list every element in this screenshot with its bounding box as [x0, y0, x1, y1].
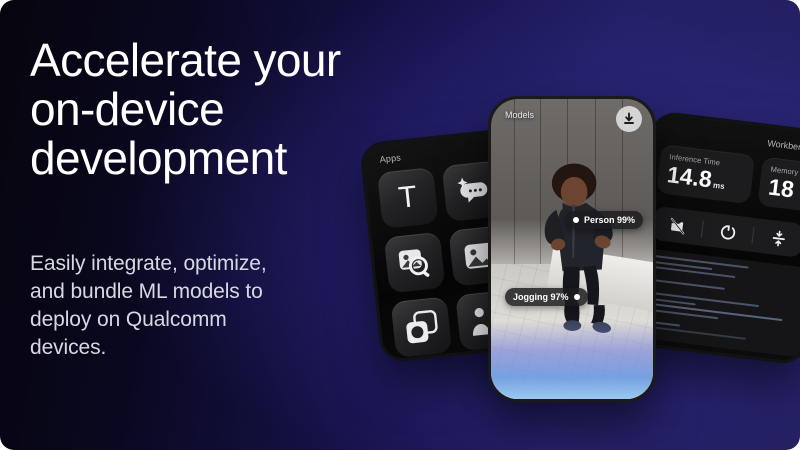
detection-label: Jogging 97% [513, 292, 569, 302]
camera-viewfinder [491, 99, 653, 399]
page-subtitle: Easily integrate, optimize, and bundle M… [30, 250, 370, 362]
workbench-toolbar [650, 206, 800, 258]
stat-card-memory: Memory 18 [757, 157, 800, 217]
workbench-stats: Inference Time 14.8ms Memory 18 [656, 144, 800, 217]
detection-badge-person: Person 99% [565, 211, 643, 229]
device-showcase: Apps T [360, 0, 800, 450]
detection-label: Person 99% [584, 215, 635, 225]
text-recognition-icon[interactable]: T [377, 167, 439, 229]
camera-off-icon[interactable] [650, 206, 704, 246]
image-search-icon[interactable] [384, 232, 446, 294]
stat-unit: ms [713, 181, 726, 191]
detection-badge-jogging: Jogging 97% [505, 288, 588, 306]
copy-block: Accelerate your on-device development Ea… [30, 36, 390, 182]
workbench-title: Workbench [767, 138, 800, 153]
stat-card-inference-time: Inference Time 14.8ms [656, 144, 755, 204]
layers-copy-icon[interactable] [391, 296, 453, 358]
refresh-icon[interactable] [701, 212, 755, 252]
download-icon[interactable] [616, 106, 642, 132]
models-title: Models [505, 110, 534, 120]
hero-banner: Accelerate your on-device development Ea… [0, 0, 800, 450]
stat-unit [795, 191, 796, 200]
phone-camera: Models Person 99% Jogging 97% [488, 96, 656, 402]
apps-title: Apps [379, 152, 401, 164]
workbench-log [638, 248, 800, 358]
detection-dot-icon [574, 294, 580, 300]
page-title: Accelerate your on-device development [30, 36, 390, 182]
detection-dot-icon [573, 217, 579, 223]
stat-value: 18 [767, 175, 800, 208]
compress-icon[interactable] [751, 218, 800, 258]
